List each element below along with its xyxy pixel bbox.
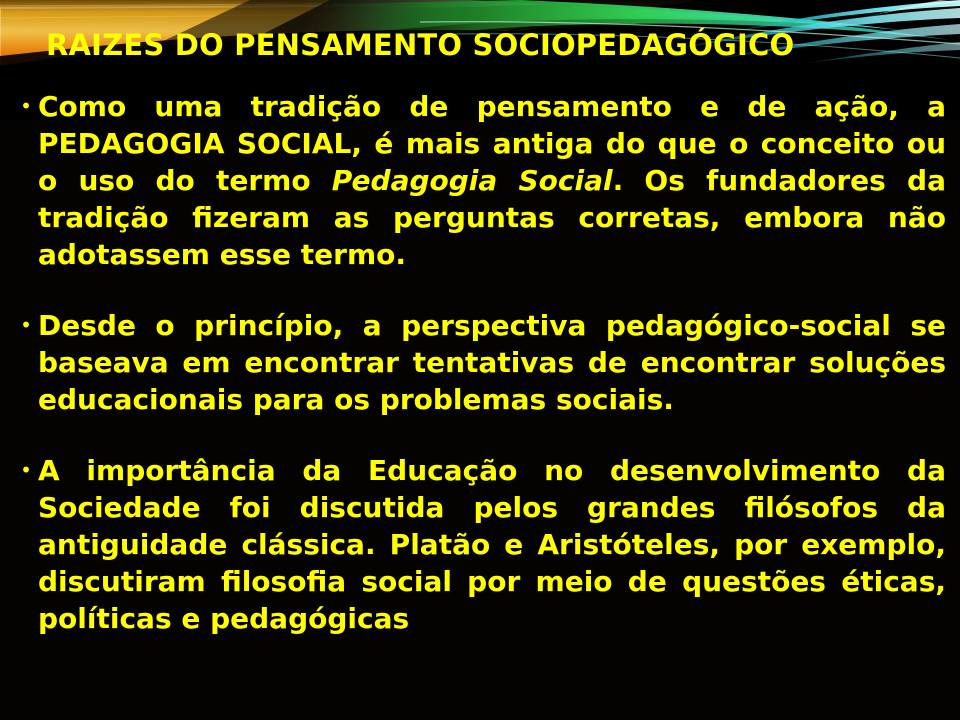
bullet-paragraph-2: Desde o princípio, a perspectiva pedagóg… [38,307,946,418]
bullet-list: • Como uma tradição de pensamento e de a… [14,88,946,637]
bullet-paragraph-1: Como uma tradição de pensamento e de açã… [38,88,946,273]
slide-canvas: RAIZES DO PENSAMENTO SOCIOPEDAGÓGICO • C… [0,0,960,720]
bullet-dot-icon: • [14,452,38,489]
list-item: • A importância da Educação no desenvolv… [14,452,946,637]
list-item: • Desde o princípio, a perspectiva pedag… [14,307,946,418]
list-item: • Como uma tradição de pensamento e de a… [14,88,946,273]
bullet-1-italic-term: Pedagogia Social [332,164,613,197]
bullet-dot-icon: • [14,307,38,344]
bullet-dot-icon: • [14,88,38,125]
page-title: RAIZES DO PENSAMENTO SOCIOPEDAGÓGICO [46,28,926,62]
bullet-paragraph-3: A importância da Educação no desenvolvim… [38,452,946,637]
